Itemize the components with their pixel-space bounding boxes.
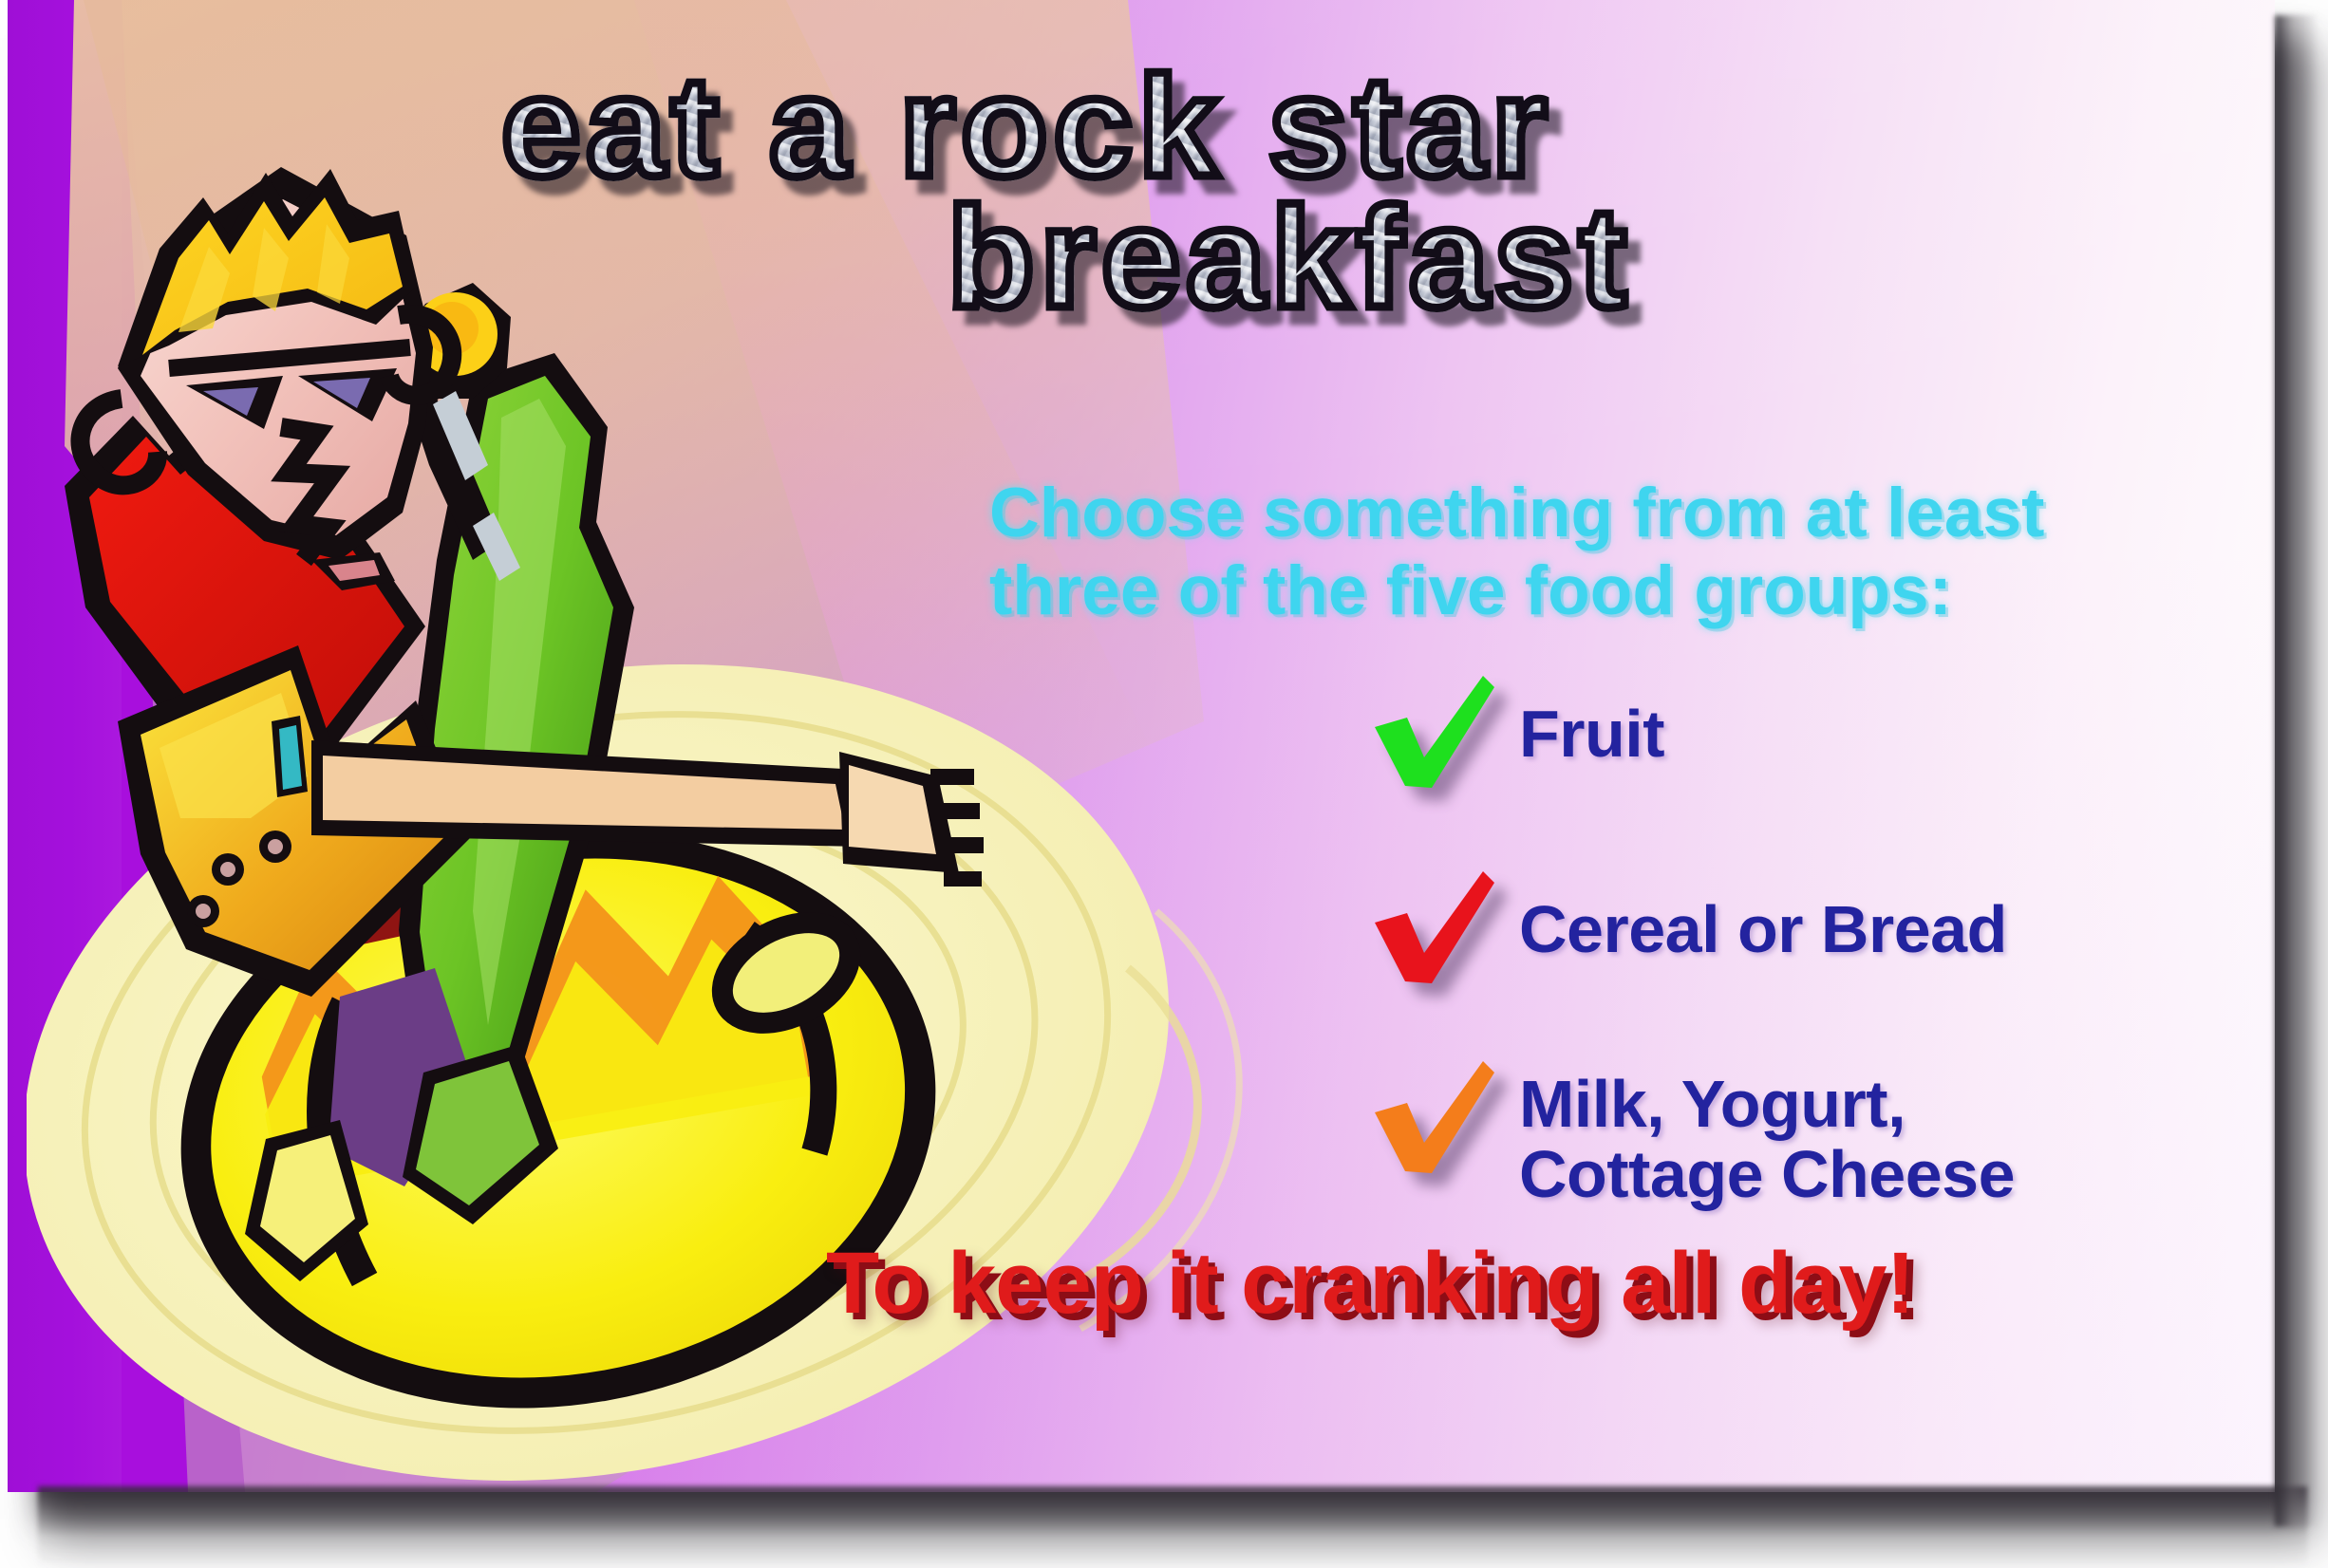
checklist-item-fruit: Fruit: [1365, 674, 2275, 795]
poster-bottom-shadow: [38, 1486, 2307, 1568]
tagline: To keep it cranking all day!: [826, 1234, 1914, 1334]
food-group-checklist: Fruit Cereal or Bread Milk, Yogurt, Cott…: [1365, 674, 2275, 1209]
food-label-fruit: Fruit: [1519, 674, 1664, 769]
food-label-cereal-bread: Cereal or Bread: [1519, 869, 2007, 964]
checklist-item-cereal-bread: Cereal or Bread: [1365, 869, 2275, 991]
subheading-line-1: Choose something from at least: [989, 475, 2233, 552]
red-checkmark-icon: [1365, 869, 1498, 991]
food-label-dairy: Milk, Yogurt, Cottage Cheese: [1519, 1059, 2015, 1209]
subheading: Choose something from at least three of …: [989, 475, 2233, 630]
poster-canvas: eat a rock star breakfast Choose somethi…: [0, 0, 2328, 1568]
poster: eat a rock star breakfast Choose somethi…: [8, 0, 2275, 1492]
green-checkmark-icon: [1365, 674, 1498, 795]
orange-checkmark-icon: [1365, 1059, 1498, 1181]
checklist-item-dairy: Milk, Yogurt, Cottage Cheese: [1365, 1059, 2275, 1209]
poster-right-shadow: [2275, 15, 2319, 1526]
subheading-line-2: three of the five food groups:: [989, 552, 2233, 630]
